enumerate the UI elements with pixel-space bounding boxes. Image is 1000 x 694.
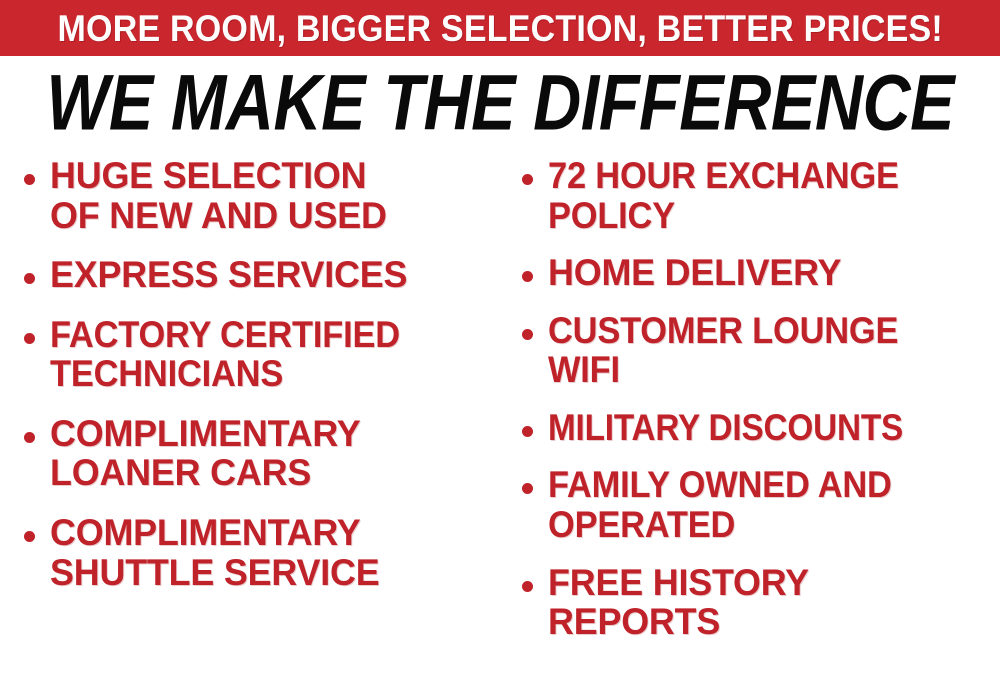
list-item: 72 HOUR EXCHANGE POLICY [512,156,1000,235]
list-item-line1: EXPRESS SERVICES [50,255,481,295]
list-item-line1: MILITARY DISCOUNTS [548,408,955,448]
list-item-line2: POLICY [548,196,968,236]
list-item-line2: REPORTS [548,602,986,642]
list-item: MILITARY DISCOUNTS [512,408,1000,448]
bullet-dot-icon [24,174,35,185]
list-item: HUGE SELECTION OF NEW AND USED [14,156,494,235]
bullet-dot-icon [522,329,533,340]
list-item-line2: WIFI [548,350,968,390]
list-item-line2: LOANER CARS [50,453,481,493]
list-item: CUSTOMER LOUNGE WIFI [512,311,1000,390]
list-item-line2: TECHNICIANS [50,354,463,394]
list-item-line2: SHUTTLE SERVICE [50,553,481,593]
headline-container: WE MAKE THE DIFFERENCE [0,62,1000,144]
benefits-column-right: 72 HOUR EXCHANGE POLICY HOME DELIVERY CU… [512,156,1000,660]
list-item-line1: FAMILY OWNED AND [548,465,968,505]
list-item: FREE HISTORY REPORTS [512,563,1000,642]
list-item-line2: OF NEW AND USED [50,196,481,236]
benefits-columns: HUGE SELECTION OF NEW AND USED EXPRESS S… [0,156,1000,694]
list-item: COMPLIMENTARY SHUTTLE SERVICE [14,513,494,592]
bullet-dot-icon [24,273,35,284]
page-title: WE MAKE THE DIFFERENCE [46,64,954,142]
benefits-column-left: HUGE SELECTION OF NEW AND USED EXPRESS S… [14,156,494,612]
list-item: FAMILY OWNED AND OPERATED [512,465,1000,544]
bullet-dot-icon [522,174,533,185]
list-item-line2: OPERATED [548,505,968,545]
list-item-line1: 72 HOUR EXCHANGE [548,156,968,196]
promo-poster: MORE ROOM, BIGGER SELECTION, BETTER PRIC… [0,0,1000,694]
list-item: EXPRESS SERVICES [14,255,494,295]
list-item-line1: CUSTOMER LOUNGE [548,311,968,351]
top-banner-text: MORE ROOM, BIGGER SELECTION, BETTER PRIC… [57,10,942,47]
list-item: HOME DELIVERY [512,253,1000,293]
list-item: FACTORY CERTIFIED TECHNICIANS [14,315,494,394]
top-banner: MORE ROOM, BIGGER SELECTION, BETTER PRIC… [0,0,1000,56]
list-item-line1: FREE HISTORY [548,563,986,603]
bullet-dot-icon [24,333,35,344]
bullet-dot-icon [522,581,533,592]
list-item-line1: FACTORY CERTIFIED [50,315,463,355]
list-item-line1: COMPLIMENTARY [50,513,481,553]
bullet-dot-icon [24,531,35,542]
bullet-dot-icon [24,432,35,443]
list-item: COMPLIMENTARY LOANER CARS [14,414,494,493]
bullet-dot-icon [522,271,533,282]
bullet-dot-icon [522,483,533,494]
list-item-line1: COMPLIMENTARY [50,414,481,454]
bullet-dot-icon [522,426,533,437]
list-item-line1: HOME DELIVERY [548,253,986,293]
list-item-line1: HUGE SELECTION [50,156,481,196]
